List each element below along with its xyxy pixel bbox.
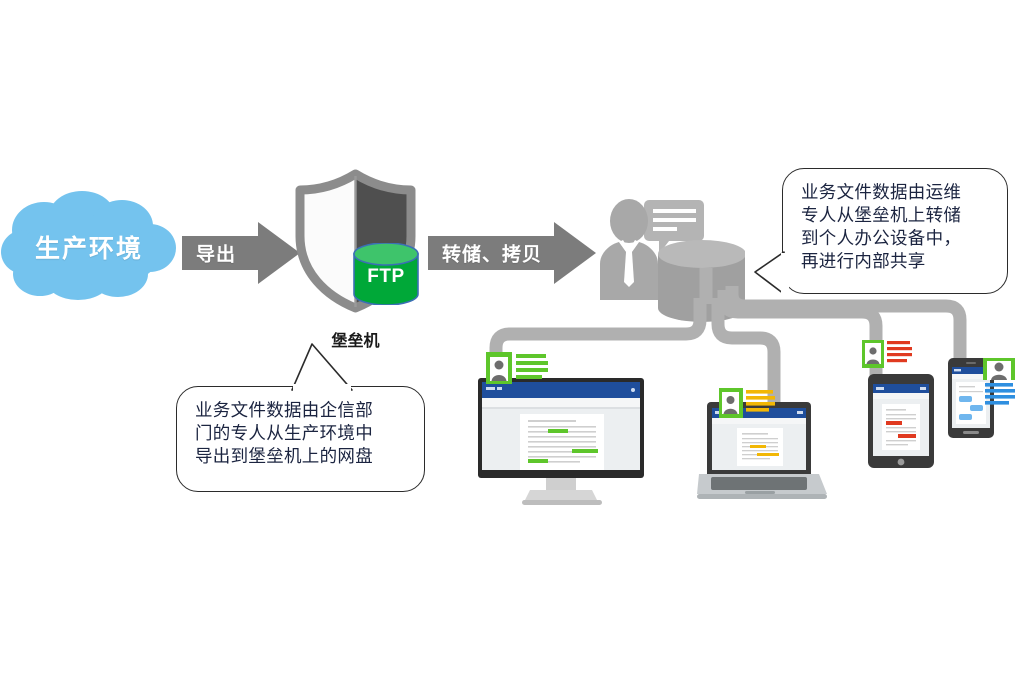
block-arrow-right-icon <box>182 222 300 284</box>
contact-card-tablet <box>862 340 912 373</box>
device-desktop <box>478 378 650 506</box>
contact-card-icon <box>983 358 1015 406</box>
callout-operations-text: 业务文件数据由运维 专人从堡垒机上转储 到个人办公设备中， 再进行内部共享 <box>783 169 1007 285</box>
callout-it-department: 业务文件数据由企信部 门的专人从生产环境中 导出到堡垒机上的网盘 <box>176 386 425 492</box>
contact-card-icon <box>719 388 775 418</box>
desktop-monitor-icon <box>478 378 650 506</box>
callout-operations: 业务文件数据由运维 专人从堡垒机上转储 到个人办公设备中， 再进行内部共享 <box>782 168 1008 294</box>
device-tablet <box>868 374 934 468</box>
contact-card-icon <box>862 340 912 368</box>
callout-it-department-tail <box>290 340 360 392</box>
database-cylinder-icon <box>352 243 420 305</box>
callout-it-department-text: 业务文件数据由企信部 门的专人从生产环境中 导出到堡垒机上的网盘 <box>177 387 424 480</box>
contact-card-laptop <box>719 388 775 423</box>
contact-card-phone <box>983 358 1015 411</box>
contact-card-desktop <box>486 352 548 389</box>
production-environment-cloud: 生产环境 <box>0 190 178 300</box>
tablet-icon <box>868 374 934 468</box>
ftp-storage: FTP <box>352 243 420 305</box>
cloud-icon <box>0 190 178 300</box>
contact-card-icon <box>486 352 548 384</box>
callout-operations-tail <box>754 250 790 300</box>
diagram-canvas: 生产环境 导出 FTP 堡垒机 <box>0 0 1015 675</box>
export-arrow: 导出 <box>182 222 300 284</box>
